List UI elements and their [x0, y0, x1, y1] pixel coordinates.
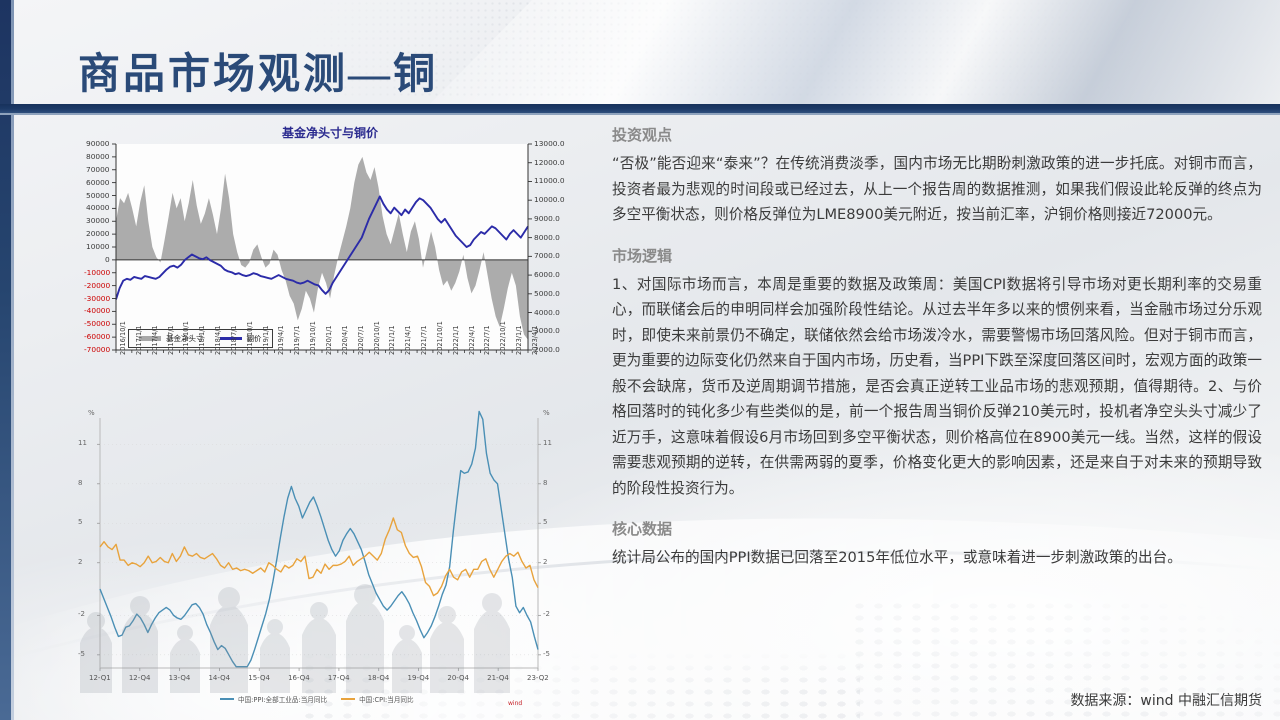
y-left-tick: -70000 [84, 345, 110, 354]
x-tick: 2019/7/1 [293, 325, 301, 355]
y-left-tick: -20000 [84, 281, 110, 290]
slide-header: 商品市场观测—铜 [0, 0, 1280, 112]
x-tick: 2017/1/1 [135, 325, 143, 355]
wind-watermark: wind [508, 700, 522, 707]
chart-top-canvas [70, 122, 590, 412]
y-left-tick: 60000 [86, 178, 110, 187]
y-right-tick: 7000.0 [534, 251, 560, 260]
x-tick: 2020/1/1 [325, 325, 333, 355]
header-rule-secondary [0, 113, 1280, 115]
section-heading-1: 市场逻辑 [612, 245, 1262, 266]
x-tick: 13-Q4 [169, 674, 191, 682]
legend-item-ppi: 中国:PPI:全部工业品:当月同比 [220, 694, 327, 704]
y-tick-left: 11 [78, 439, 87, 447]
chart-bottom-legend: 中国:PPI:全部工业品:当月同比 中国:CPI:当月同比 [220, 694, 414, 704]
legend-item-cpi: 中国:CPI:当月同比 [341, 694, 414, 704]
x-tick: 2018/10/1 [246, 321, 254, 355]
crowd-silhouette-graphic [70, 503, 570, 693]
legend-label-cpi: 中国:CPI:当月同比 [359, 694, 414, 704]
section-heading-2: 核心数据 [612, 518, 1262, 539]
y-tick-right: 5 [543, 518, 547, 526]
y-left-tick: -60000 [84, 332, 110, 341]
x-tick: 15-Q4 [248, 674, 270, 682]
x-tick: 21-Q4 [487, 674, 509, 682]
y-left-tick: -40000 [84, 306, 110, 315]
y-right-tick: 8000.0 [534, 233, 560, 242]
y-left-tick: -30000 [84, 294, 110, 303]
y-tick-right: 11 [543, 439, 552, 447]
x-tick: 20-Q4 [447, 674, 469, 682]
x-tick: 2018/4/1 [214, 325, 222, 355]
y-tick-left: 8 [78, 479, 82, 487]
x-tick: 23-Q2 [527, 674, 549, 682]
y-right-tick: 4000.0 [534, 308, 560, 317]
x-tick: 2022/1/1 [452, 325, 460, 355]
x-tick: 2023/4/1 [531, 325, 539, 355]
y-left-tick: 0 [105, 255, 110, 264]
chart-fund-net-position-copper: 基金净头寸与铜价 基金净头寸 铜价 9000080000700006000050… [70, 122, 590, 412]
y-right-tick: 13000.0 [534, 139, 565, 148]
y-tick-right: 8 [543, 479, 547, 487]
y-tick-left: -5 [78, 650, 85, 658]
x-tick: 16-Q4 [288, 674, 310, 682]
commentary-column: 投资观点 “否极”能否迎来“泰来”？在传统消费淡季，国内市场无比期盼刺激政策的进… [612, 124, 1262, 588]
x-tick: 2017/4/1 [151, 325, 159, 355]
section-body-2: 统计局公布的国内PPI数据已回落至2015年低位水平，或意味着进一步刺激政策的出… [612, 545, 1262, 571]
section-heading-0: 投资观点 [612, 124, 1262, 145]
data-source-note: 数据来源：wind 中融汇信期货 [1070, 690, 1262, 710]
header-rule [0, 104, 1280, 113]
y-left-tick: 70000 [86, 165, 110, 174]
y-tick-right: -2 [543, 610, 550, 618]
y-left-tick: 40000 [86, 203, 110, 212]
y-unit-left: % [88, 409, 95, 417]
x-tick: 2018/7/1 [230, 325, 238, 355]
y-left-tick: -10000 [84, 268, 110, 277]
y-left-tick: 10000 [86, 242, 110, 251]
header-sheen-graphic [430, 0, 1280, 104]
x-tick: 17-Q4 [328, 674, 350, 682]
y-right-tick: 6000.0 [534, 270, 560, 279]
y-tick-left: 2 [78, 558, 82, 566]
x-tick: 2021/10/1 [436, 321, 444, 355]
legend-item-copper-price: 铜价 [220, 333, 262, 344]
x-tick: 12-Q1 [89, 674, 111, 682]
section-body-0: “否极”能否迎来“泰来”？在传统消费淡季，国内市场无比期盼刺激政策的进一步托底。… [612, 151, 1262, 228]
legend-swatch-ppi [220, 698, 234, 700]
y-left-tick: 30000 [86, 216, 110, 225]
x-tick: 2021/7/1 [420, 325, 428, 355]
x-tick: 2020/4/1 [341, 325, 349, 355]
x-tick: 2019/4/1 [277, 325, 285, 355]
y-tick-right: -5 [543, 650, 550, 658]
x-tick: 2022/7/1 [483, 325, 491, 355]
y-right-tick: 9000.0 [534, 214, 560, 223]
section-investment-view: 投资观点 “否极”能否迎来“泰来”？在传统消费淡季，国内市场无比期盼刺激政策的进… [612, 124, 1262, 228]
y-unit-right: % [543, 409, 550, 417]
x-tick: 2023/1/1 [515, 325, 523, 355]
y-tick-left: 5 [78, 518, 82, 526]
chart-china-ppi-cpi: 中国:PPI:全部工业品:当月同比 中国:CPI:当月同比 wind 11118… [70, 408, 570, 713]
x-tick: 12-Q4 [129, 674, 151, 682]
page-title: 商品市场观测—铜 [78, 40, 438, 101]
y-tick-left: -2 [78, 610, 85, 618]
x-tick: 2019/10/1 [309, 321, 317, 355]
y-right-tick: 11000.0 [534, 176, 565, 185]
chart-title-top: 基金净头寸与铜价 [70, 124, 590, 141]
x-tick: 2021/1/1 [388, 325, 396, 355]
x-tick: 2021/4/1 [404, 325, 412, 355]
y-tick-right: 2 [543, 558, 547, 566]
x-tick: 2016/10/1 [119, 321, 127, 355]
x-tick: 2022/10/1 [499, 321, 507, 355]
y-left-tick: 20000 [86, 229, 110, 238]
x-tick: 2017/10/1 [182, 321, 190, 355]
section-core-data: 核心数据 统计局公布的国内PPI数据已回落至2015年低位水平，或意味着进一步刺… [612, 518, 1262, 571]
section-market-logic: 市场逻辑 1、对国际市场而言，本周是重要的数据及政策周：美国CPI数据将引导市场… [612, 245, 1262, 502]
legend-label-ppi: 中国:PPI:全部工业品:当月同比 [238, 694, 327, 704]
x-tick: 2020/7/1 [357, 325, 365, 355]
x-tick: 2017/7/1 [167, 325, 175, 355]
y-left-tick: 90000 [86, 139, 110, 148]
y-right-tick: 5000.0 [534, 289, 560, 298]
legend-swatch-cpi [341, 698, 355, 700]
x-tick: 14-Q4 [208, 674, 230, 682]
x-tick: 2019/1/1 [262, 325, 270, 355]
y-right-tick: 10000.0 [534, 195, 565, 204]
x-tick: 18-Q4 [368, 674, 390, 682]
x-tick: 19-Q4 [408, 674, 430, 682]
y-left-tick: 50000 [86, 191, 110, 200]
y-right-tick: 12000.0 [534, 158, 565, 167]
x-tick: 2020/10/1 [373, 321, 381, 355]
x-tick: 2018/1/1 [198, 325, 206, 355]
x-tick: 2022/4/1 [468, 325, 476, 355]
section-body-1: 1、对国际市场而言，本周是重要的数据及政策周：美国CPI数据将引导市场对更长期利… [612, 272, 1262, 502]
y-left-tick: -50000 [84, 319, 110, 328]
y-left-tick: 80000 [86, 152, 110, 161]
